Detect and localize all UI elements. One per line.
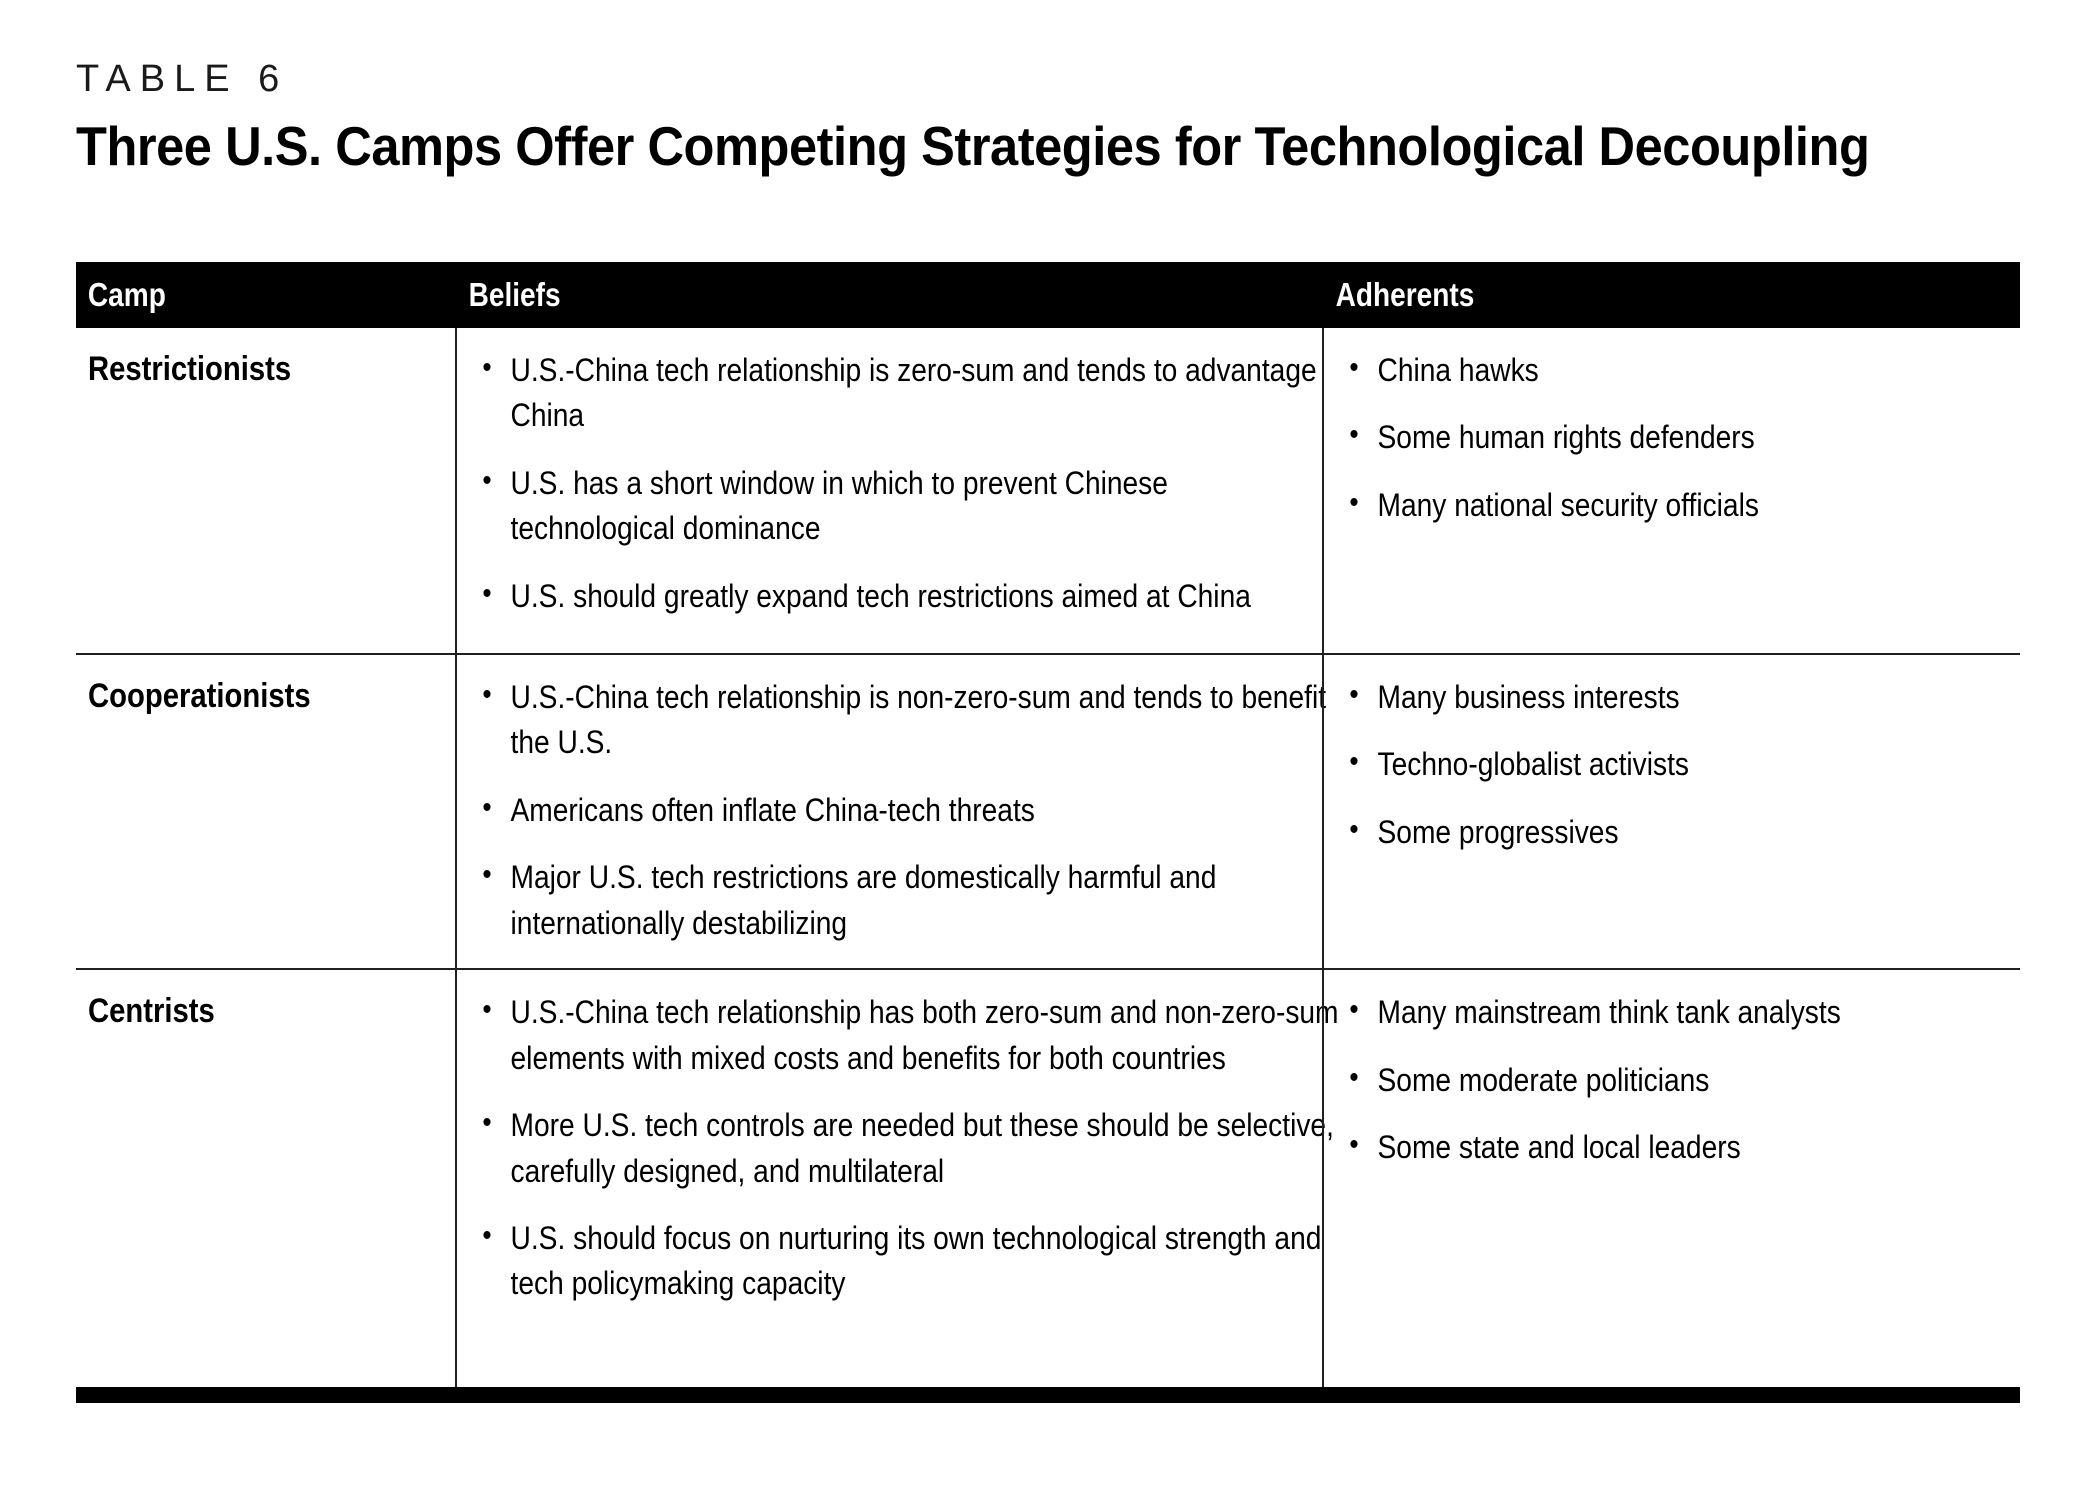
table-bottom-rule xyxy=(76,1387,2020,1403)
list-item: Many national security officials xyxy=(1330,483,2038,528)
adherents-list: Many business interests Techno-globalist… xyxy=(1324,655,2020,877)
column-header-adherents: Adherents xyxy=(1322,276,1915,314)
table-number-label: TABLE 6 xyxy=(76,58,2036,102)
adherents-list: Many mainstream think tank analysts Some… xyxy=(1324,970,2020,1192)
list-item: Many business interests xyxy=(1330,675,2038,720)
column-header-camp: Camp xyxy=(76,276,398,314)
list-item: Some progressives xyxy=(1330,810,2038,855)
list-item: Americans often inflate China-tech threa… xyxy=(463,788,1339,833)
data-table: Camp Beliefs Adherents Restrictionists U… xyxy=(76,262,2020,1403)
camp-name: Restrictionists xyxy=(76,328,402,389)
list-item: Some moderate politicians xyxy=(1330,1058,2038,1103)
cell-beliefs: U.S.-China tech relationship is zero-sum… xyxy=(455,328,1322,653)
title-block: TABLE 6 Three U.S. Camps Offer Competing… xyxy=(76,58,2036,176)
table-row: Cooperationists U.S.-China tech relation… xyxy=(76,653,2020,968)
beliefs-list: U.S.-China tech relationship is zero-sum… xyxy=(457,328,1322,641)
beliefs-list: U.S.-China tech relationship is non-zero… xyxy=(457,655,1322,968)
cell-adherents: Many mainstream think tank analysts Some… xyxy=(1322,970,2020,1387)
beliefs-list: U.S.-China tech relationship has both ze… xyxy=(457,970,1322,1329)
camp-name: Cooperationists xyxy=(76,655,402,716)
column-header-beliefs: Beliefs xyxy=(455,276,1192,314)
list-item: U.S.-China tech relationship has both ze… xyxy=(463,990,1339,1081)
list-item: U.S.-China tech relationship is zero-sum… xyxy=(463,348,1339,439)
camp-name: Centrists xyxy=(76,970,402,1031)
list-item: Many mainstream think tank analysts xyxy=(1330,990,2038,1035)
page-title: Three U.S. Camps Offer Competing Strateg… xyxy=(76,116,1879,177)
cell-camp: Cooperationists xyxy=(76,655,455,968)
cell-camp: Restrictionists xyxy=(76,328,455,653)
list-item: China hawks xyxy=(1330,348,2038,393)
list-item: U.S. should greatly expand tech restrict… xyxy=(463,574,1339,619)
table-page: TABLE 6 Three U.S. Camps Offer Competing… xyxy=(0,0,2084,1488)
table-body: Restrictionists U.S.-China tech relation… xyxy=(76,328,2020,1387)
cell-beliefs: U.S.-China tech relationship is non-zero… xyxy=(455,655,1322,968)
table-header-row: Camp Beliefs Adherents xyxy=(76,262,2020,328)
table-row: Restrictionists U.S.-China tech relation… xyxy=(76,328,2020,653)
list-item: Some state and local leaders xyxy=(1330,1125,2038,1170)
cell-adherents: Many business interests Techno-globalist… xyxy=(1322,655,2020,968)
cell-camp: Centrists xyxy=(76,970,455,1387)
list-item: U.S. has a short window in which to prev… xyxy=(463,461,1339,552)
adherents-list: China hawks Some human rights defenders … xyxy=(1324,328,2020,550)
cell-beliefs: U.S.-China tech relationship has both ze… xyxy=(455,970,1322,1387)
list-item: Techno-globalist activists xyxy=(1330,742,2038,787)
list-item: More U.S. tech controls are needed but t… xyxy=(463,1103,1339,1194)
list-item: U.S.-China tech relationship is non-zero… xyxy=(463,675,1339,766)
cell-adherents: China hawks Some human rights defenders … xyxy=(1322,328,2020,653)
table-row: Centrists U.S.-China tech relationship h… xyxy=(76,968,2020,1387)
list-item: Some human rights defenders xyxy=(1330,415,2038,460)
list-item: Major U.S. tech restrictions are domesti… xyxy=(463,855,1339,946)
list-item: U.S. should focus on nurturing its own t… xyxy=(463,1216,1339,1307)
